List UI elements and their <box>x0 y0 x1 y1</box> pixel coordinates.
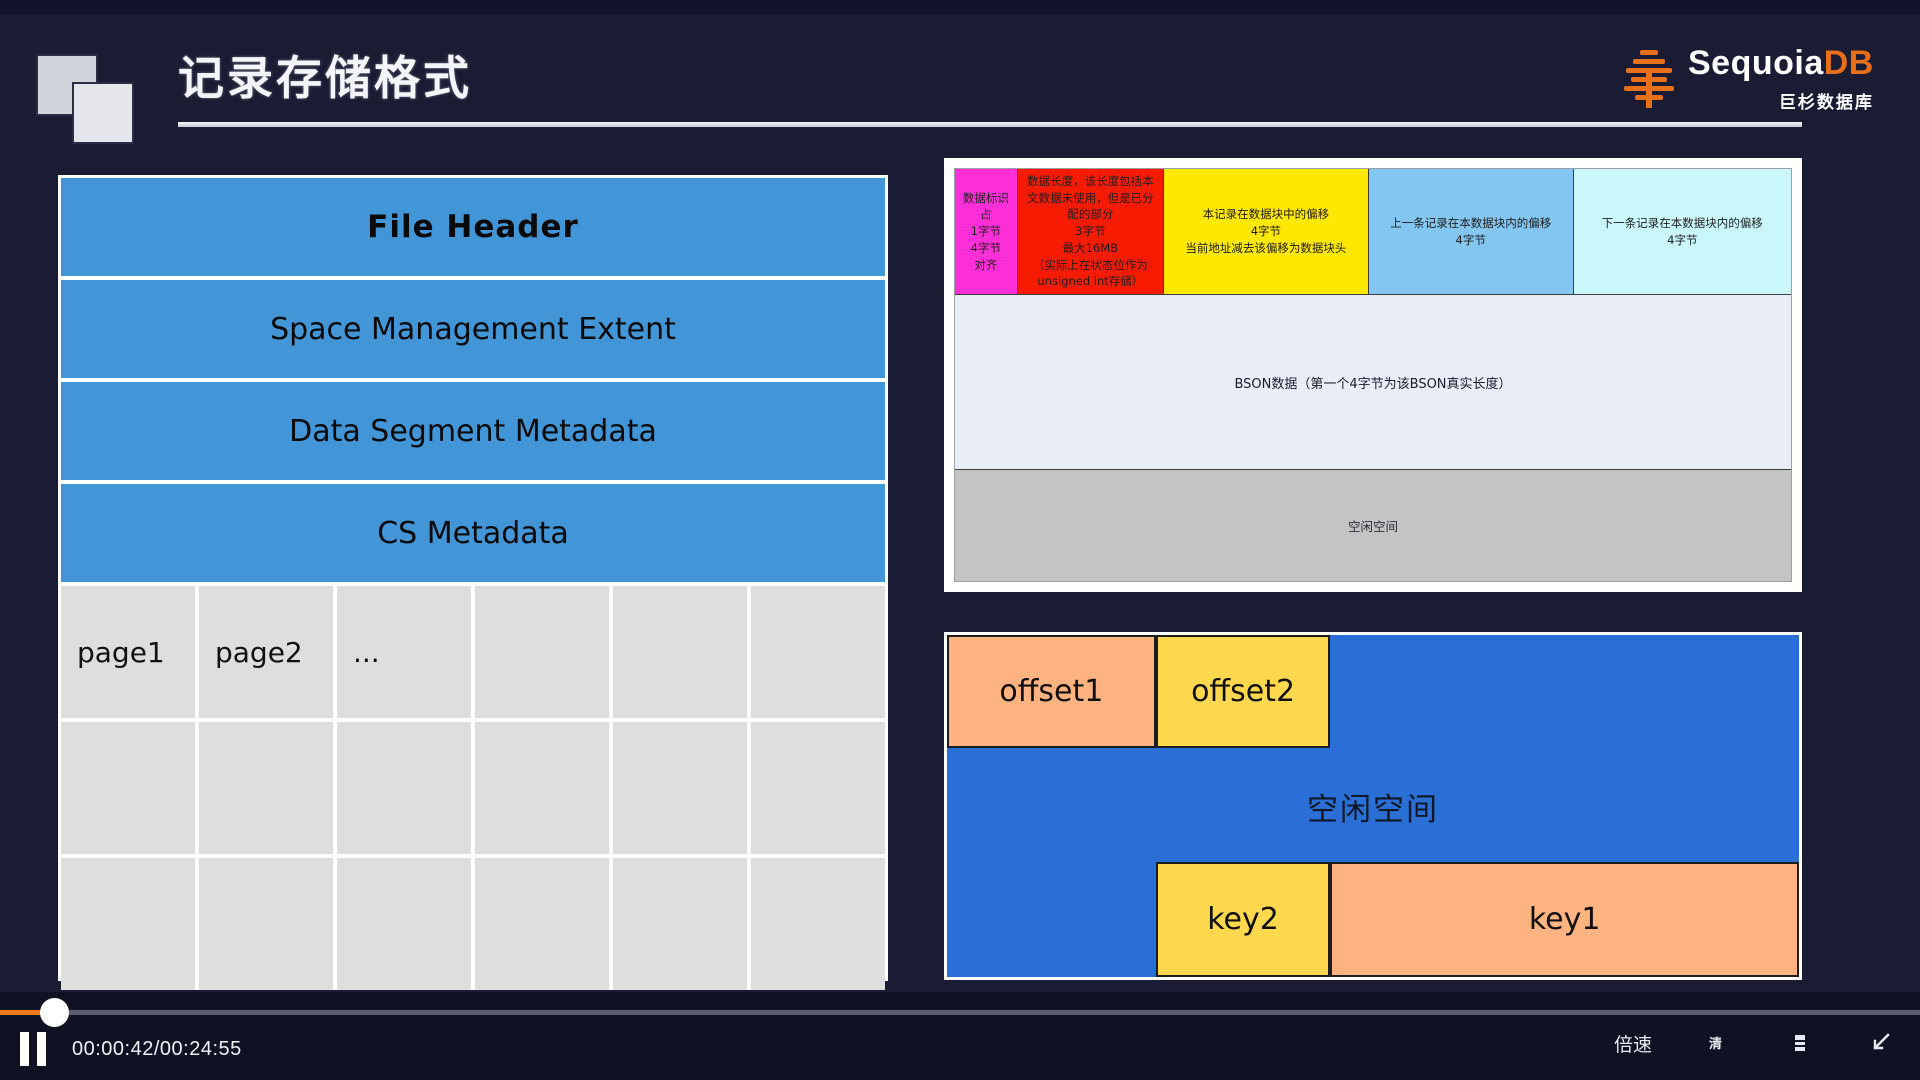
page-cell-empty <box>751 722 885 854</box>
sequoiadb-logo: SequoiaDB 巨杉数据库 <box>1616 40 1866 126</box>
time-display: 00:00:42/00:24:55 <box>72 1038 242 1061</box>
page-cell-empty <box>61 858 195 990</box>
record-segment-5: 下一条记录在本数据块内的偏移4字节 <box>1574 169 1791 294</box>
page-cell-page2: page2 <box>199 586 333 718</box>
bar-data-segment-metadata: Data Segment Metadata <box>61 382 885 484</box>
record-segment-line: 最大16MB <box>1063 240 1118 257</box>
fullscreen-icon[interactable] <box>1868 1028 1892 1058</box>
page-cell-empty <box>475 722 609 854</box>
record-segment-line: 1字节 <box>971 223 1001 240</box>
progress-knob[interactable] <box>40 998 69 1027</box>
page-cell-empty <box>337 722 471 854</box>
brand-text: SequoiaDB 巨杉数据库 <box>1688 46 1874 113</box>
record-segment-line: 数据标识 <box>963 190 1009 207</box>
pause-icon[interactable] <box>20 1032 46 1066</box>
brand-name-white: Sequoia <box>1688 44 1824 82</box>
page-box-offset1: offset1 <box>947 635 1156 748</box>
record-segment-line: unsigned int存储） <box>1037 273 1143 290</box>
player-left-controls: 00:00:42/00:24:55 <box>20 1032 242 1066</box>
page-cell-empty <box>475 586 609 718</box>
record-segment-line: 对齐 <box>974 257 997 274</box>
quality-glyph: 清 <box>1709 1033 1731 1053</box>
brand-name: SequoiaDB <box>1688 46 1874 80</box>
fullscreen-glyph <box>1869 1032 1891 1054</box>
page-cell-empty <box>613 586 747 718</box>
record-segment-line: 上一条记录在本数据块内的偏移 <box>1390 215 1551 232</box>
page-layout-grid: 空闲空间 offset1offset2key2key1 <box>947 635 1799 977</box>
page-cell-empty <box>199 722 333 854</box>
bar-file-header: File Header <box>61 178 885 280</box>
record-segment-line: 下一条记录在本数据块内的偏移 <box>1602 215 1763 232</box>
record-segment-1: 数据标识占1字节4字节对齐 <box>955 169 1018 294</box>
video-player-page: 记录存储格式 SequoiaDB 巨杉数据库 F <box>0 0 1920 1080</box>
page-cell-empty <box>613 722 747 854</box>
brand-name-orange: DB <box>1824 44 1874 82</box>
record-segment-line: 当前地址减去该偏移为数据块头 <box>1185 240 1346 257</box>
page-cell-empty <box>613 858 747 990</box>
settings-glyph <box>1793 1033 1807 1053</box>
top-strip <box>0 0 1920 14</box>
slide-header: 记录存储格式 SequoiaDB 巨杉数据库 <box>0 14 1920 144</box>
bar-space-management-extent: Space Management Extent <box>61 280 885 382</box>
record-segment-line: 占 <box>980 206 992 223</box>
video-player-controls: 00:00:42/00:24:55 倍速 清 <box>0 992 1920 1080</box>
page-box-key1: key1 <box>1330 862 1799 977</box>
sequoia-tree-icon <box>1616 46 1682 110</box>
page-cell-empty <box>61 722 195 854</box>
logo-square-front <box>72 82 134 144</box>
page-cell-empty <box>337 858 471 990</box>
quality-icon[interactable]: 清 <box>1708 1028 1732 1058</box>
player-right-controls: 倍速 清 <box>1614 1028 1892 1058</box>
bar-cs-metadata: CS Metadata <box>61 484 885 586</box>
record-segment-line: 数据长度，该长度包括本 <box>1027 173 1154 190</box>
record-segment-line: 4字节 <box>1667 232 1697 249</box>
record-segment-line: 配的部分 <box>1067 206 1113 223</box>
record-bson-area: BSON数据（第一个4字节为该BSON真实长度） <box>955 294 1791 469</box>
page-cell-empty <box>475 858 609 990</box>
page-box-offset2: offset2 <box>1156 635 1331 748</box>
record-free-space-area: 空闲空间 <box>955 469 1791 581</box>
slide-title-wrap: 记录存储格式 <box>178 42 1328 127</box>
page-layout-figure: 空闲空间 offset1offset2key2key1 <box>944 632 1802 980</box>
record-segment-line: 4字节 <box>1456 232 1486 249</box>
brand-name-cn: 巨杉数据库 <box>1688 88 1874 113</box>
record-segment-line: 4字节 <box>971 240 1001 257</box>
playback-speed-button[interactable]: 倍速 <box>1614 1028 1652 1058</box>
page-cell-empty <box>751 586 885 718</box>
file-structure-figure: File Header Space Management Extent Data… <box>58 175 888 981</box>
page-cell-empty <box>199 858 333 990</box>
page-cell-...: ... <box>337 586 471 718</box>
page-cell-empty <box>751 858 885 990</box>
page-title: 记录存储格式 <box>178 42 1328 108</box>
svg-text:清: 清 <box>1709 1036 1722 1052</box>
record-segment-line: 文数据未使用，但是已分 <box>1027 190 1154 207</box>
record-segment-line: 本记录在数据块中的偏移 <box>1203 206 1330 223</box>
record-segment-line: 3字节 <box>1075 223 1105 240</box>
record-segment-4: 上一条记录在本数据块内的偏移4字节 <box>1369 169 1574 294</box>
settings-icon[interactable] <box>1788 1028 1812 1058</box>
title-underline <box>178 122 1802 127</box>
record-segment-line: （实际上在状态位作为 <box>1033 257 1148 274</box>
record-segment-2: 数据长度，该长度包括本文数据未使用，但是已分配的部分3字节最大16MB（实际上在… <box>1018 169 1164 294</box>
record-segment-line: 4字节 <box>1251 223 1281 240</box>
progress-bar[interactable] <box>0 1010 1920 1015</box>
record-format-inner: 数据标识占1字节4字节对齐数据长度，该长度包括本文数据未使用，但是已分配的部分3… <box>954 168 1792 582</box>
page-grid: page1page2... <box>61 586 885 990</box>
page-box-key2: key2 <box>1156 862 1331 977</box>
slide-logo-mark <box>36 54 132 146</box>
record-format-figure: 数据标识占1字节4字节对齐数据长度，该长度包括本文数据未使用，但是已分配的部分3… <box>944 158 1802 592</box>
record-segment-3: 本记录在数据块中的偏移4字节当前地址减去该偏移为数据块头 <box>1164 169 1369 294</box>
record-header-segments: 数据标识占1字节4字节对齐数据长度，该长度包括本文数据未使用，但是已分配的部分3… <box>955 169 1791 294</box>
page-cell-page1: page1 <box>61 586 195 718</box>
